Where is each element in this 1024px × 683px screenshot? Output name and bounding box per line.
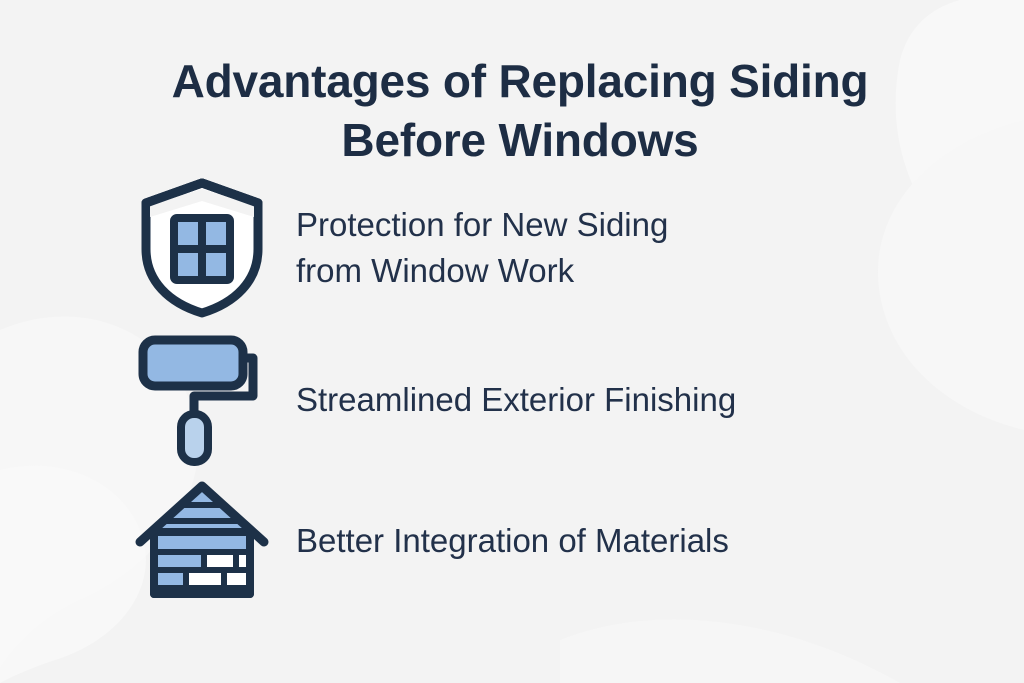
advantage-2-label: Streamlined Exterior Finishing bbox=[296, 377, 736, 423]
title-line-2: Before Windows bbox=[130, 111, 910, 170]
advantage-3-icon-cell bbox=[126, 476, 278, 606]
advantage-1-icon-cell bbox=[126, 178, 278, 318]
advantage-item-1: Protection for New Siding from Window Wo… bbox=[126, 178, 668, 318]
page-title: Advantages of Replacing Siding Before Wi… bbox=[130, 52, 910, 170]
house-siding-brick-icon bbox=[132, 476, 272, 606]
advantage-item-2: Streamlined Exterior Finishing bbox=[126, 334, 736, 466]
advantage-item-3: Better Integration of Materials bbox=[126, 476, 729, 606]
advantage-3-label: Better Integration of Materials bbox=[296, 518, 729, 564]
paint-roller-icon bbox=[137, 334, 267, 466]
advantage-1-label: Protection for New Siding from Window Wo… bbox=[296, 202, 668, 293]
shield-window-icon bbox=[137, 177, 267, 319]
title-line-1: Advantages of Replacing Siding bbox=[130, 52, 910, 111]
infographic-canvas: Advantages of Replacing Siding Before Wi… bbox=[0, 0, 1024, 683]
advantage-2-icon-cell bbox=[126, 334, 278, 466]
infographic-content: Advantages of Replacing Siding Before Wi… bbox=[0, 0, 1024, 683]
